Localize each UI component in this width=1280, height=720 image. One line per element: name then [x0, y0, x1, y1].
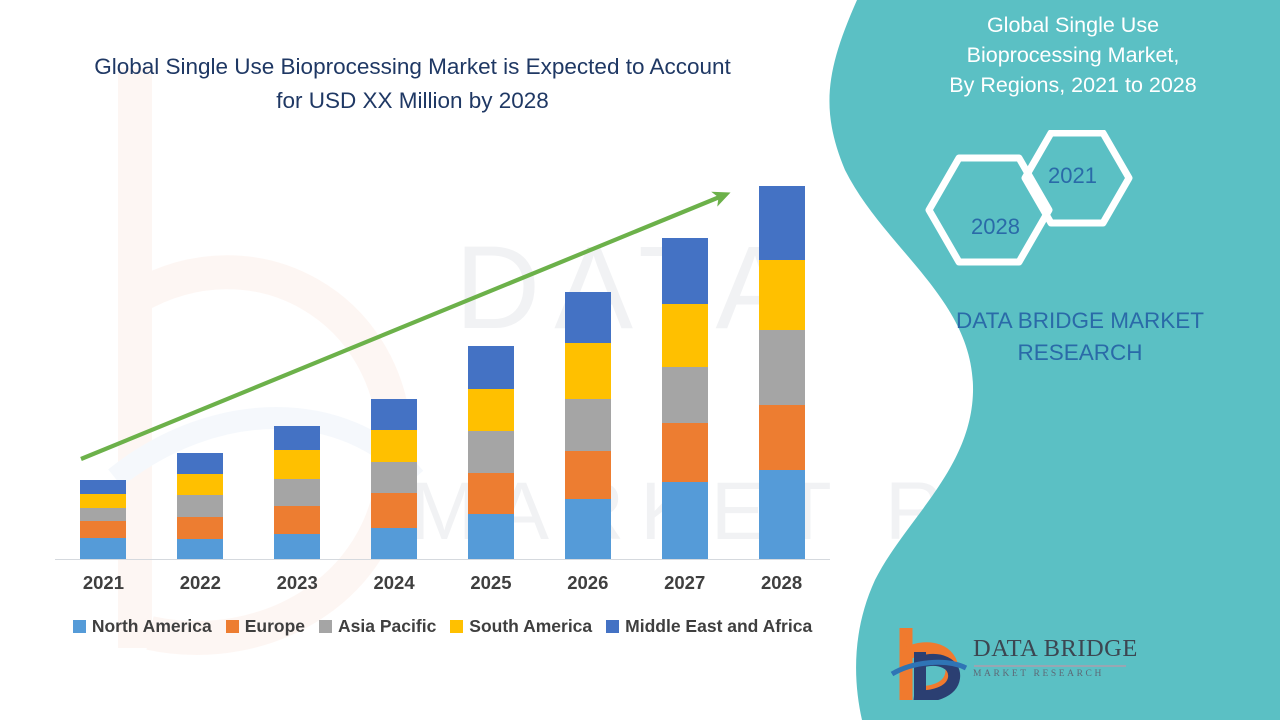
legend-label: Asia Pacific [338, 616, 436, 637]
x-axis-tick-label: 2024 [346, 572, 443, 594]
bar-segment [468, 346, 514, 389]
panel-brand-name: DATA BRIDGE MARKET RESEARCH [920, 305, 1240, 369]
legend-label: South America [469, 616, 592, 637]
x-axis-tick-label: 2022 [152, 572, 249, 594]
data-bridge-logo-text: DATA BRIDGE MARKET RESEARCH [973, 635, 1133, 679]
hexagon-outlines-icon [915, 130, 1215, 290]
bar-segment [274, 534, 320, 560]
bar-segment [274, 450, 320, 479]
legend-item: South America [450, 616, 592, 637]
bar-segment [759, 470, 805, 560]
bar-segment [565, 343, 611, 399]
legend-swatch-icon [226, 620, 239, 633]
x-axis-tick-label: 2026 [539, 572, 636, 594]
bar-segment [80, 508, 126, 521]
bar-column [55, 480, 152, 560]
panel-brand-line-1: DATA BRIDGE MARKET [920, 305, 1240, 337]
data-bridge-logo-mark-icon [890, 628, 972, 700]
bar-segment [274, 426, 320, 450]
legend-swatch-icon [319, 620, 332, 633]
bar-segment [468, 389, 514, 431]
bar-segment [759, 186, 805, 260]
bar-segment [759, 330, 805, 405]
logo-title: DATA BRIDGE [973, 635, 1133, 663]
bar-column [152, 453, 249, 560]
page-title-line-2: for USD XX Million by 2028 [40, 84, 785, 118]
bar-segment [371, 528, 417, 560]
bar-segment [274, 479, 320, 506]
bar-segment [177, 453, 223, 474]
legend-item: North America [73, 616, 212, 637]
bar-segment [565, 399, 611, 451]
bar-column [539, 292, 636, 560]
logo-subtitle: MARKET RESEARCH [973, 669, 1133, 679]
bar-segment [371, 399, 417, 430]
x-axis-line [55, 559, 830, 560]
x-axis-tick-label: 2025 [443, 572, 540, 594]
bar-segment [662, 482, 708, 560]
bar-column [443, 346, 540, 560]
page-title: Global Single Use Bioprocessing Market i… [40, 50, 785, 118]
bar-segment [662, 238, 708, 304]
bar-segment [565, 451, 611, 499]
chart-legend: North AmericaEuropeAsia PacificSouth Ame… [55, 616, 830, 637]
legend-label: Europe [245, 616, 305, 637]
bar-segment [371, 493, 417, 528]
bar-segment [274, 506, 320, 534]
data-bridge-logo: DATA BRIDGE MARKET RESEARCH [890, 626, 1140, 706]
bar-segment [80, 480, 126, 494]
logo-divider [974, 665, 1126, 667]
x-axis-tick-label: 2021 [55, 572, 152, 594]
panel-title-line-2: Bioprocessing Market, [908, 40, 1238, 70]
bar-column [346, 399, 443, 560]
bar-segment [565, 499, 611, 560]
bar-segment [468, 431, 514, 473]
hexagon-2028-label: 2028 [971, 214, 1020, 240]
bar-segment [468, 514, 514, 560]
bar-column [249, 426, 346, 560]
bar-segment [177, 517, 223, 539]
panel-title-line-3: By Regions, 2021 to 2028 [908, 70, 1238, 100]
page-title-line-1: Global Single Use Bioprocessing Market i… [40, 50, 785, 84]
x-axis-tick-label: 2023 [249, 572, 346, 594]
bar-series-container [55, 160, 830, 560]
bar-segment [565, 292, 611, 343]
legend-swatch-icon [606, 620, 619, 633]
bar-segment [80, 538, 126, 560]
x-axis-labels: 20212022202320242025202620272028 [55, 572, 830, 602]
bar-segment [177, 474, 223, 495]
legend-item: Europe [226, 616, 305, 637]
legend-label: Middle East and Africa [625, 616, 812, 637]
panel-title-line-1: Global Single Use [908, 10, 1238, 40]
bar-segment [371, 462, 417, 493]
bar-segment [662, 304, 708, 367]
legend-swatch-icon [450, 620, 463, 633]
infographic-canvas: DATA MARKET RESEARCH Global Single Use B… [0, 0, 1280, 720]
bar-segment [177, 495, 223, 517]
chart-region: Global Single Use Bioprocessing Market i… [0, 0, 860, 720]
panel-content: Global Single Use Bioprocessing Market, … [960, 0, 1280, 720]
bar-segment [468, 473, 514, 514]
plot-area [55, 160, 830, 560]
bar-segment [371, 430, 417, 462]
legend-swatch-icon [73, 620, 86, 633]
x-axis-tick-label: 2028 [733, 572, 830, 594]
bar-segment [759, 405, 805, 470]
panel-title: Global Single Use Bioprocessing Market, … [908, 10, 1238, 100]
legend-item: Middle East and Africa [606, 616, 812, 637]
bar-segment [177, 539, 223, 560]
bar-column [636, 238, 733, 560]
bar-segment [80, 494, 126, 508]
bar-segment [662, 423, 708, 482]
hexagon-2021-label: 2021 [1048, 163, 1097, 189]
panel-brand-line-2: RESEARCH [920, 337, 1240, 369]
bar-column [733, 186, 830, 560]
bar-segment [759, 260, 805, 330]
legend-label: North America [92, 616, 212, 637]
x-axis-tick-label: 2027 [636, 572, 733, 594]
hexagon-year-group: 2021 2028 [915, 130, 1215, 290]
legend-item: Asia Pacific [319, 616, 436, 637]
bar-segment [662, 367, 708, 423]
bar-segment [80, 521, 126, 538]
